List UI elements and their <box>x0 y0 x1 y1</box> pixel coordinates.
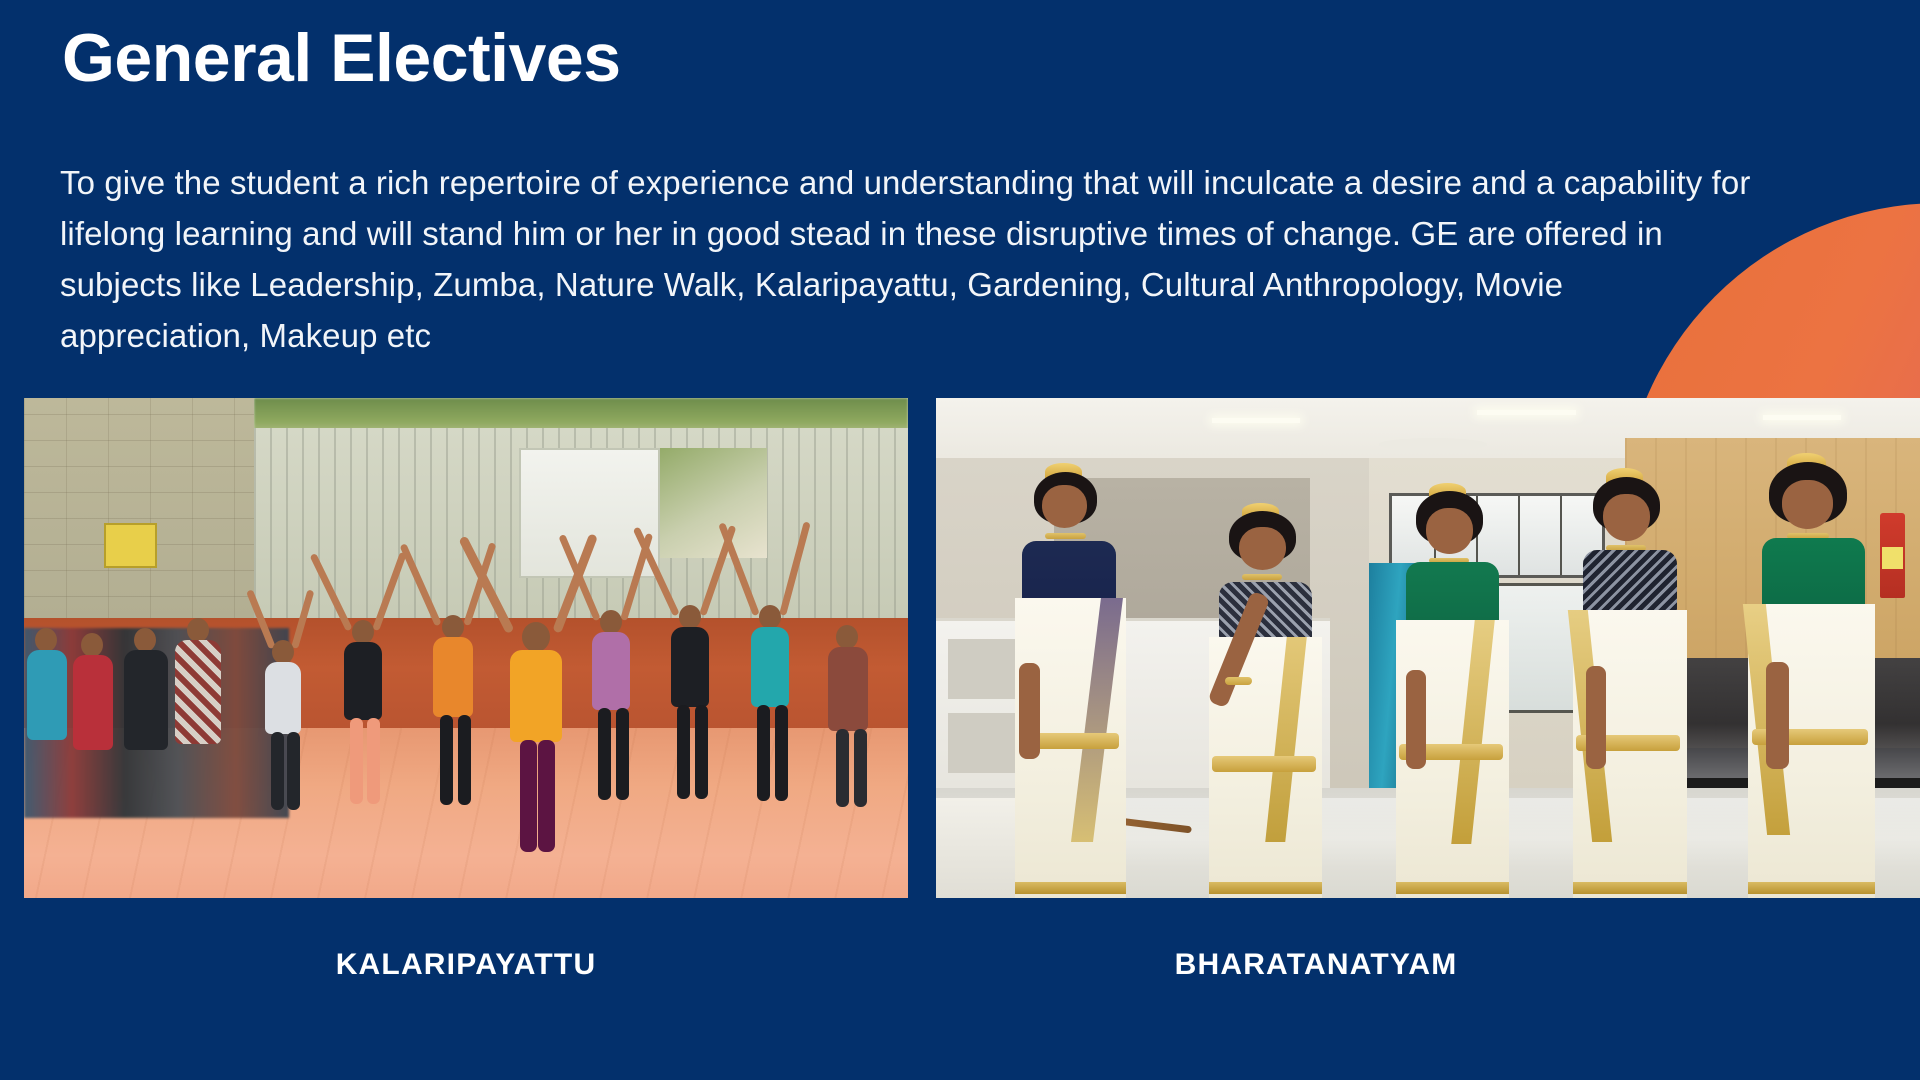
caption-row: KALARIPAYATTU BHARATANATYAM <box>0 898 1920 1080</box>
photo-bharatanatyam-content <box>936 398 1920 898</box>
photo-kalaripayattu-content <box>24 398 908 898</box>
photo-row <box>0 398 1920 898</box>
caption-bharatanatyam: BHARATANATYAM <box>936 948 1696 982</box>
page-title: General Electives <box>62 22 621 95</box>
photo-kalaripayattu[interactable] <box>24 398 908 898</box>
page-body-paragraph: To give the student a rich repertoire of… <box>60 157 1760 361</box>
slide-general-electives: General Electives To give the student a … <box>0 0 1920 1080</box>
photo-bharatanatyam[interactable] <box>936 398 1920 898</box>
caption-kalaripayattu: KALARIPAYATTU <box>24 948 908 982</box>
